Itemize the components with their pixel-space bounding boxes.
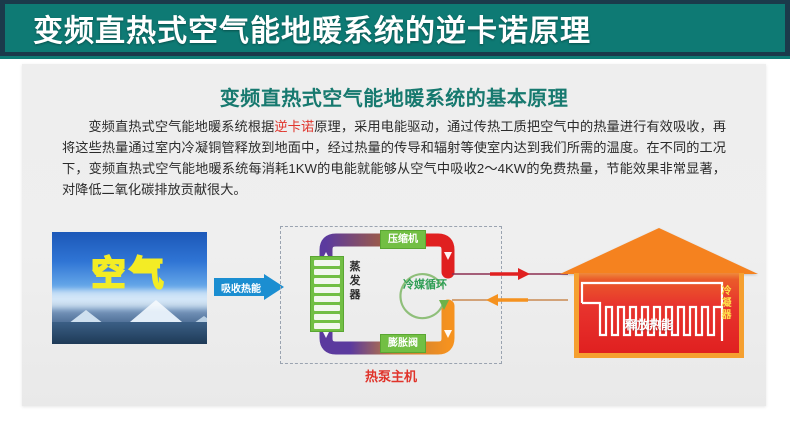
evaporator-fin [314, 278, 340, 284]
compressor-badge: 压缩机 [380, 230, 426, 249]
house-illustration: 释放热能 冷凝器 [560, 228, 758, 368]
header-band: 变频直热式空气能地暖系统的逆卡诺原理 [5, 4, 785, 52]
evaporator-fin [314, 260, 340, 266]
content-panel: 变频直热式空气能地暖系统的基本原理 变频直热式空气能地暖系统根据逆卡诺原理，采用… [22, 64, 766, 406]
page-header: 变频直热式空气能地暖系统的逆卡诺原理 [0, 0, 790, 56]
flow-arrow-icon [518, 268, 530, 280]
evaporator-label: 蒸发器 [348, 260, 362, 302]
condenser-label: 冷凝器 [720, 286, 733, 322]
paragraph-highlight: 逆卡诺 [274, 119, 314, 134]
refrigerant-cycle-indicator: 冷媒循环 [396, 270, 454, 322]
pump-house-connectors [452, 264, 570, 324]
evaporator-fin [314, 269, 340, 275]
heat-pump-caption: 热泵主机 [280, 366, 502, 385]
body-paragraph: 变频直热式空气能地暖系统根据逆卡诺原理，采用电能驱动，通过传热工质把空气中的热量… [62, 116, 726, 200]
air-photo: 空气 [52, 232, 207, 344]
expansion-valve-badge: 膨胀阀 [380, 334, 426, 353]
page-title: 变频直热式空气能地暖系统的逆卡诺原理 [33, 6, 591, 50]
cycle-label: 冷媒循环 [396, 278, 454, 292]
evaporator-fin [314, 314, 340, 320]
header-underline [0, 56, 790, 59]
photo-foreground [52, 322, 207, 344]
evaporator-fin [314, 296, 340, 302]
paragraph-part1: 变频直热式空气能地暖系统根据 [88, 119, 274, 134]
evaporator-fin [314, 323, 340, 329]
release-heat-label: 释放热能 [584, 316, 714, 333]
absorb-heat-label: 吸收热能 [216, 280, 266, 295]
section-subtitle: 变频直热式空气能地暖系统的基本原理 [22, 82, 766, 111]
air-overlay-text: 空气 [52, 246, 207, 295]
principle-diagram: 空气 吸收热能 [22, 224, 766, 406]
evaporator-fin [314, 305, 340, 311]
house-roof [560, 228, 758, 274]
absorb-heat-arrow: 吸收热能 [214, 274, 284, 300]
evaporator-fin [314, 287, 340, 293]
flow-arrow-icon [486, 294, 498, 306]
evaporator-unit [310, 256, 344, 332]
